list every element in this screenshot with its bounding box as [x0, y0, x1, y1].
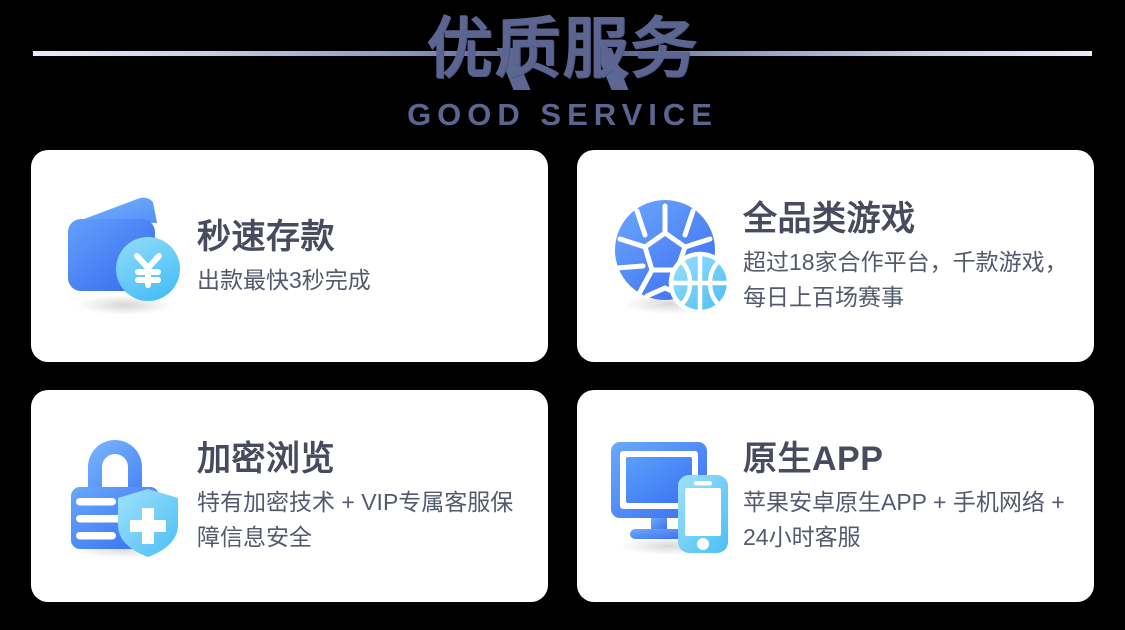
- feature-card-native-app[interactable]: 原生APP 苹果安卓原生APP + 手机网络 + 24小时客服: [577, 390, 1094, 602]
- card-text-block: 全品类游戏 超过18家合作平台，千款游戏，每日上百场赛事: [739, 197, 1094, 315]
- lock-shield-icon: [57, 426, 193, 566]
- card-subtitle: 出款最快3秒完成: [197, 263, 371, 298]
- soccer-basketball-icon: [603, 186, 739, 326]
- banner-header: 优质服务 GOOD SERVICE: [0, 0, 1125, 142]
- feature-card-grid: 秒速存款 出款最快3秒完成: [31, 150, 1094, 602]
- card-title: 全品类游戏: [743, 197, 1082, 241]
- card-text-block: 原生APP 苹果安卓原生APP + 手机网络 + 24小时客服: [739, 437, 1094, 555]
- wallet-yen-icon: [57, 186, 193, 326]
- card-subtitle: 苹果安卓原生APP + 手机网络 + 24小时客服: [743, 485, 1082, 555]
- feature-card-games[interactable]: 全品类游戏 超过18家合作平台，千款游戏，每日上百场赛事: [577, 150, 1094, 362]
- card-title: 秒速存款: [197, 215, 371, 259]
- page-subtitle: GOOD SERVICE: [0, 96, 1125, 134]
- card-title: 原生APP: [743, 437, 1082, 481]
- card-subtitle: 超过18家合作平台，千款游戏，每日上百场赛事: [743, 245, 1082, 315]
- feature-card-deposit[interactable]: 秒速存款 出款最快3秒完成: [31, 150, 548, 362]
- promo-banner: 优质服务 GOOD SERVICE: [0, 0, 1125, 630]
- card-subtitle: 特有加密技术 + VIP专属客服保障信息安全: [197, 485, 527, 555]
- card-text-block: 加密浏览 特有加密技术 + VIP专属客服保障信息安全: [193, 437, 539, 555]
- page-title: 优质服务: [0, 8, 1125, 88]
- card-text-block: 秒速存款 出款最快3秒完成: [193, 215, 383, 298]
- card-title: 加密浏览: [197, 437, 527, 481]
- feature-card-encryption[interactable]: 加密浏览 特有加密技术 + VIP专属客服保障信息安全: [31, 390, 548, 602]
- monitor-phone-icon: [603, 426, 739, 566]
